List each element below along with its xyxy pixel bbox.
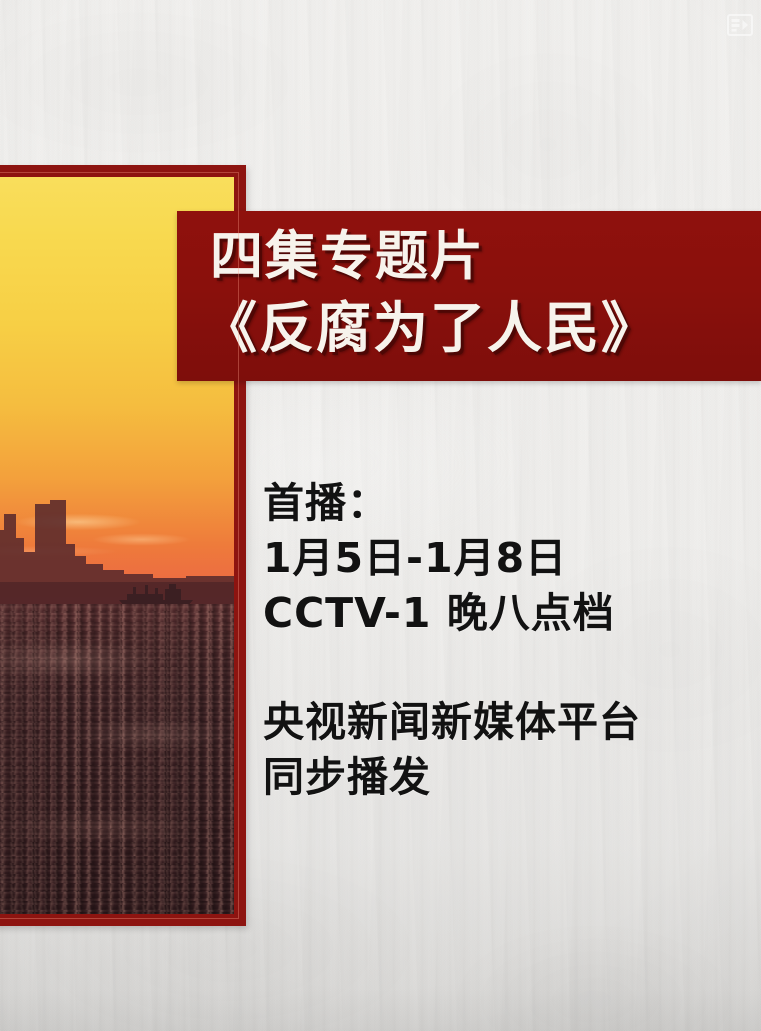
promo-poster: 四集专题片 《反腐为了人民》 首播： 1月5日-1月8日 CCTV-1 晚八点档… [0, 0, 761, 1031]
banner-title-line-2: 《反腐为了人民》 [202, 292, 761, 364]
banner-title-line-1: 四集专题片 [210, 222, 761, 292]
info-channel-time: CCTV-1 晚八点档 [263, 586, 733, 641]
media-placeholder-icon [727, 14, 753, 36]
title-banner: 四集专题片 《反腐为了人民》 [177, 211, 761, 381]
info-premiere-label: 首播： [263, 476, 733, 531]
info-block-platform: 央视新闻新媒体平台 同步播发 [263, 695, 733, 805]
info-premiere-dates: 1月5日-1月8日 [263, 531, 733, 586]
info-platform-name: 央视新闻新媒体平台 [263, 695, 733, 750]
info-platform-note: 同步播发 [263, 750, 733, 805]
title-banner-inner: 四集专题片 《反腐为了人民》 [210, 222, 761, 381]
photo-water-glint [0, 604, 234, 914]
photo-water [0, 604, 234, 914]
info-block-premiere: 首播： 1月5日-1月8日 CCTV-1 晚八点档 [263, 476, 733, 641]
broadcast-info: 首播： 1月5日-1月8日 CCTV-1 晚八点档 央视新闻新媒体平台 同步播发 [263, 476, 733, 805]
